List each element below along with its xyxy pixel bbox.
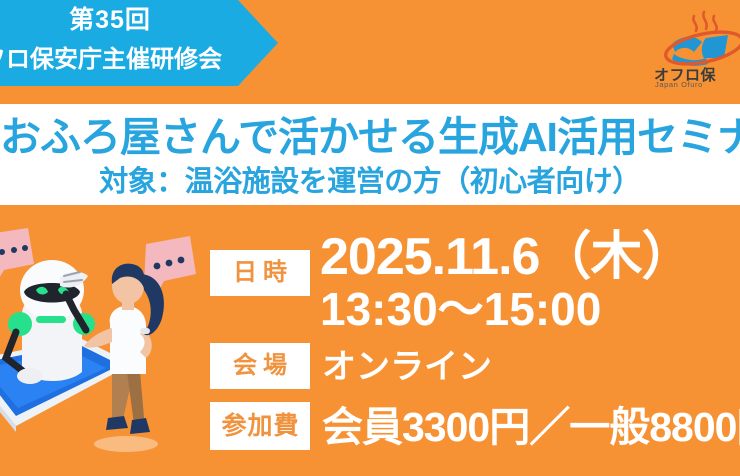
event-date-value: 2025.11.6（木）: [320, 228, 692, 286]
detail-row-datetime: 日時 2025.11.6（木） 13:30〜15:00: [210, 222, 740, 340]
fee-tag: 参加費: [210, 402, 310, 450]
event-ribbon: 第35回 オフロ保安庁主催研修会: [0, 0, 280, 86]
venue-tag: 会場: [210, 343, 310, 389]
logo-text-english: Japan Ofuro: [655, 80, 703, 89]
ribbon-edition-label: 第35回: [0, 0, 280, 40]
seminar-title: おふろ屋さんで活かせる生成AI活用セミナー: [0, 108, 740, 166]
fee-value: 会員3300円／一般8800円: [322, 403, 740, 451]
event-details: 日時 2025.11.6（木） 13:30〜15:00 会場 オンライン 参加費…: [210, 222, 740, 462]
seminar-subtitle: 対象：温浴施設を運営の方（初心者向け）: [0, 162, 740, 202]
venue-value: オンライン: [322, 346, 492, 388]
datetime-tag: 日時: [210, 250, 310, 296]
event-time-value: 13:30〜15:00: [320, 282, 601, 336]
organization-logo: オフロ保 Japan Ofuro: [650, 8, 740, 90]
hero-illustration: [0, 212, 200, 476]
ribbon-organizer-label: オフロ保安庁主催研修会: [0, 40, 258, 80]
title-band: おふろ屋さんで活かせる生成AI活用セミナー 対象：温浴施設を運営の方（初心者向け…: [0, 104, 740, 205]
detail-row-fee: 参加費 会員3300円／一般8800円: [210, 402, 740, 462]
robot-character: [6, 260, 95, 384]
detail-row-venue: 会場 オンライン: [210, 340, 740, 402]
seminar-poster: 第35回 オフロ保安庁主催研修会 オフロ保 Japan Ofuro おふろ屋さん…: [0, 0, 740, 476]
